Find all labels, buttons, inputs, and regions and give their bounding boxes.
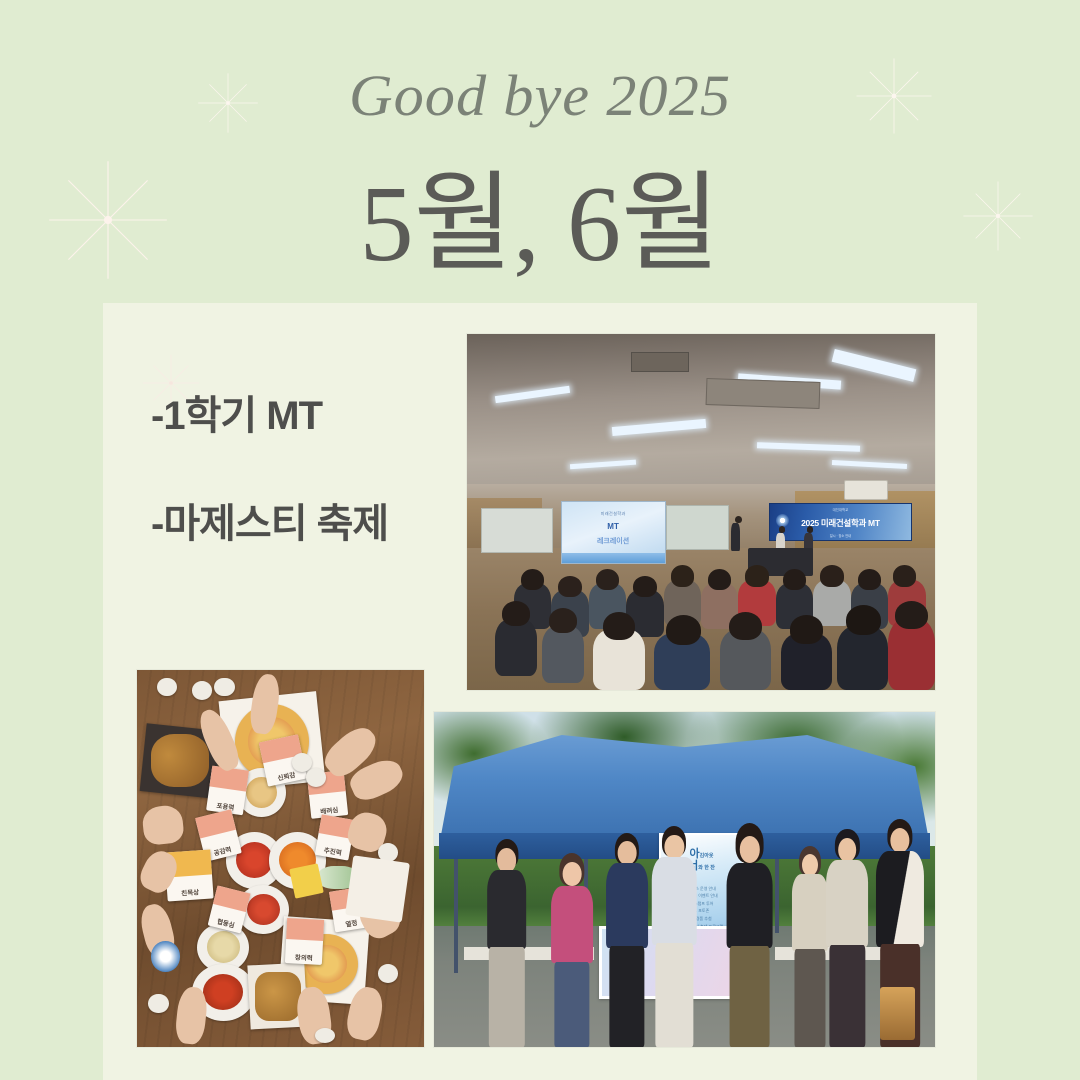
audience-member: [542, 626, 584, 683]
audience-head: [895, 601, 928, 629]
whiteboard-right: [666, 505, 729, 550]
audience-head: [846, 605, 881, 635]
student: [479, 839, 534, 1047]
screen-line-3: 레크레이션: [562, 536, 665, 546]
mt-banner: 대진대학교 2025 미래건설학과 MT 일시 · 장소 안내: [769, 503, 911, 541]
presenter-head: [779, 526, 786, 533]
photo-majesty-festival: 아김아웃 너와 한 잔 1. 부스 운영 안내 2. 참여 이벤트 안내 3. …: [434, 712, 935, 1047]
ceiling-vent: [705, 378, 820, 409]
whiteboard-left: [481, 508, 553, 553]
card-item: 포용력: [206, 766, 249, 816]
audience-head: [820, 565, 843, 586]
snack-pack: [289, 863, 323, 898]
bullet-item-festival: -마제스티 축제: [151, 491, 451, 549]
air-conditioner: [844, 480, 888, 500]
paper-cup: [148, 994, 168, 1013]
audience-head: [783, 569, 806, 590]
audience-member: [837, 626, 888, 690]
audience-member: [495, 619, 537, 676]
water-bottle: [151, 941, 180, 971]
audience-member: [888, 619, 935, 690]
audience-head: [596, 569, 619, 590]
projector-screen: 미래건설학과 MT 레크레이션: [561, 501, 666, 564]
screen-line-1: 미래건설학과: [562, 511, 665, 517]
tent-leg: [454, 859, 458, 973]
card-text: 배려심: [310, 802, 348, 816]
paper-cup: [214, 678, 234, 697]
audience-head: [729, 612, 762, 640]
banner-top-line: 대진대학교: [770, 507, 910, 512]
screen-line-2: MT: [562, 522, 665, 531]
presenter: [731, 523, 740, 551]
page-title: 5월, 6월: [0, 168, 1080, 281]
audience-head: [502, 601, 530, 626]
paper-cup: [378, 964, 398, 983]
photo-food-table: 신뢰감 포용력 배려심 추진력 공감력 친목상: [137, 670, 424, 1047]
drum: [880, 987, 915, 1041]
ceiling-vent: [631, 352, 689, 372]
audience-head: [603, 612, 636, 640]
presenter-head: [807, 526, 814, 533]
audience-head: [633, 576, 656, 597]
card-text: 창의력: [285, 950, 323, 962]
takeout-box: [345, 855, 410, 923]
audience-head: [858, 569, 881, 590]
university-logo-icon: [776, 514, 789, 527]
banner-sub-line: 일시 · 장소 안내: [770, 533, 910, 538]
audience-head: [745, 565, 768, 586]
card-text: 친목상: [167, 885, 213, 898]
student: [820, 829, 875, 1047]
student: [544, 853, 599, 1047]
audience-head: [790, 615, 823, 643]
card-band: [286, 918, 324, 941]
audience-head: [666, 615, 701, 645]
banner-main-line: 2025 미래건설학과 MT: [801, 517, 880, 529]
audience-head: [893, 565, 916, 586]
fried-chicken-2: [255, 972, 301, 1021]
fried-chicken: [151, 734, 208, 787]
presenter-head: [735, 516, 742, 523]
audience-head: [558, 576, 581, 597]
audience-head: [671, 565, 694, 586]
student: [644, 826, 704, 1047]
screen-bottom-bar: [562, 553, 665, 563]
audience-head: [708, 569, 731, 590]
bullet-item-mt: -1학기 MT: [151, 383, 451, 441]
script-title: Good bye 2025: [0, 62, 1080, 129]
audience-head: [521, 569, 544, 590]
poster-canvas: Good bye 2025 5월, 6월 -1학기 MT -마제스티 축제: [0, 0, 1080, 1080]
audience-head: [549, 608, 577, 633]
photo-mt-lecture-hall: 미래건설학과 MT 레크레이션 대진대학교 2025 미래건설학과 MT 일시 …: [467, 334, 935, 690]
bullet-list: -1학기 MT -마제스티 축제: [151, 383, 451, 549]
paper-cup: [192, 681, 212, 700]
card-item: 창의력: [285, 918, 325, 965]
student: [720, 823, 780, 1047]
